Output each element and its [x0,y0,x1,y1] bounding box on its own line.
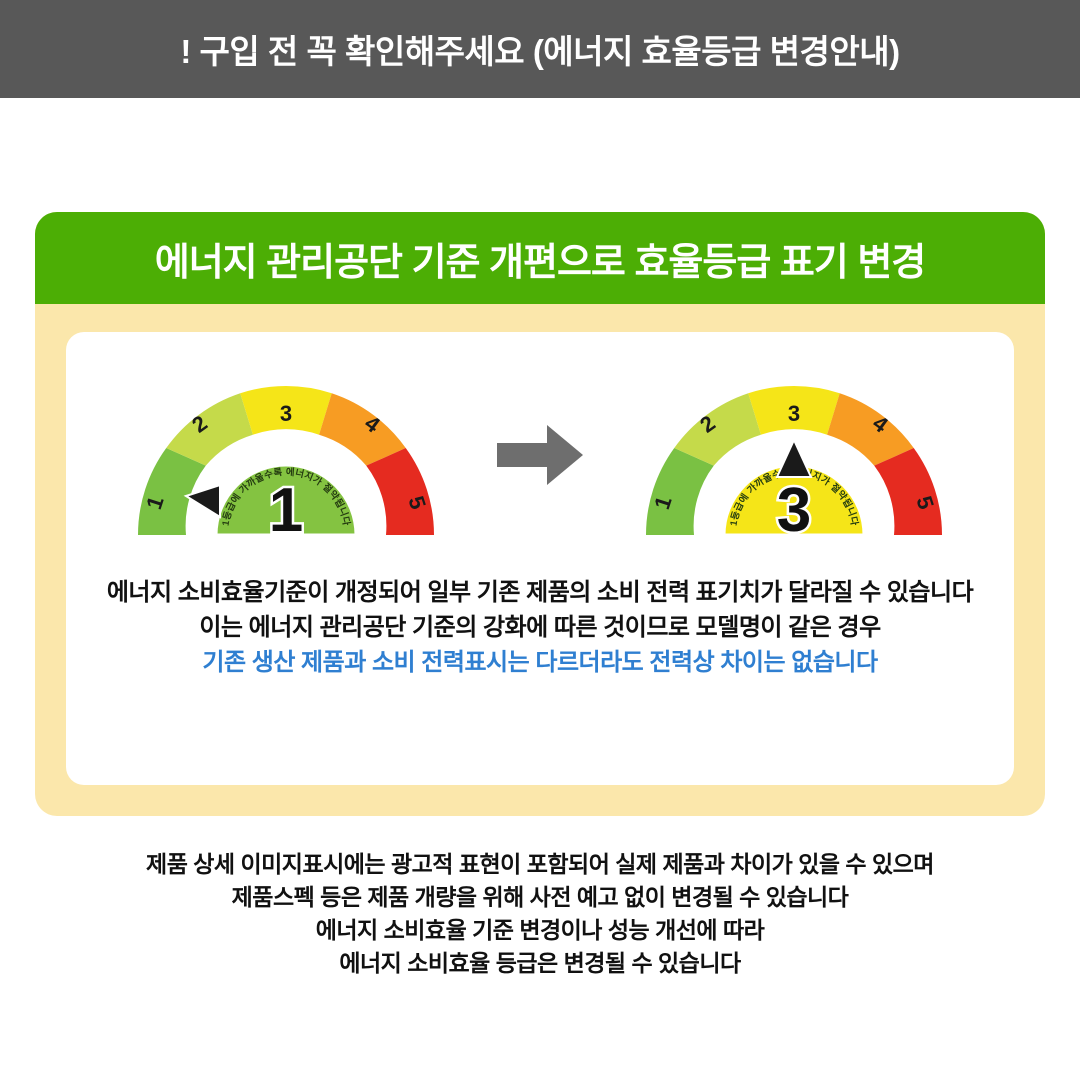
footer-line-1: 제품 상세 이미지표시에는 광고적 표현이 포함되어 실제 제품과 차이가 있을… [0,848,1080,881]
grade-comparison: 1 2 3 4 5 1등급에 가까울수록 에너지가 절약됩니다 1 [66,350,1014,560]
page-header-bar: ! 구입 전 꼭 확인해주세요 (에너지 효율등급 변경안내) [0,0,1080,98]
notice-card: 1 2 3 4 5 1등급에 가까울수록 에너지가 절약됩니다 1 [66,332,1014,785]
gauge-after: 1 2 3 4 5 1등급에 가까울수록 에너지가 절약됩니다 3 [644,365,944,545]
notice-body-line-1: 에너지 소비효율기준이 개정되어 일부 기존 제품의 소비 전력 표기치가 달라… [66,575,1014,610]
gauge-after-grade: 3 [777,476,811,545]
notice-banner-title: 에너지 관리공단 기준 개편으로 효율등급 표기 변경 [155,231,926,286]
gauge-after-needle-icon [777,440,811,477]
notice-body-line-3: 기존 생산 제품과 소비 전력표시는 다르더라도 전력상 차이는 없습니다 [66,645,1014,680]
footer-disclaimer: 제품 상세 이미지표시에는 광고적 표현이 포함되어 실제 제품과 차이가 있을… [0,848,1080,980]
gauge-after-graphic: 1 2 3 4 5 1등급에 가까울수록 에너지가 절약됩니다 3 [644,365,944,545]
gauge-before-graphic: 1 2 3 4 5 1등급에 가까울수록 에너지가 절약됩니다 1 [136,365,436,545]
notice-banner: 에너지 관리공단 기준 개편으로 효율등급 표기 변경 [35,212,1045,304]
transition-arrow-icon [492,410,588,500]
notice-card-text: 에너지 소비효율기준이 개정되어 일부 기존 제품의 소비 전력 표기치가 달라… [66,575,1014,680]
footer-line-4: 에너지 소비효율 등급은 변경될 수 있습니다 [0,947,1080,980]
page-title: ! 구입 전 꼭 확인해주세요 (에너지 효율등급 변경안내) [180,25,899,73]
gauge-before: 1 2 3 4 5 1등급에 가까울수록 에너지가 절약됩니다 1 [136,365,436,545]
notice-panel: 에너지 관리공단 기준 개편으로 효율등급 표기 변경 [35,212,1045,816]
footer-line-3: 에너지 소비효율 기준 변경이나 성능 개선에 따라 [0,914,1080,947]
gauge-segment-label-3: 3 [788,401,800,426]
gauge-before-grade: 1 [269,476,303,545]
right-arrow-icon [495,423,585,487]
footer-line-2: 제품스펙 등은 제품 개량을 위해 사전 예고 없이 변경될 수 있습니다 [0,881,1080,914]
gauge-segment-label-3: 3 [280,401,292,426]
notice-body-line-2: 이는 에너지 관리공단 기준의 강화에 따른 것이므로 모델명이 같은 경우 [66,610,1014,645]
